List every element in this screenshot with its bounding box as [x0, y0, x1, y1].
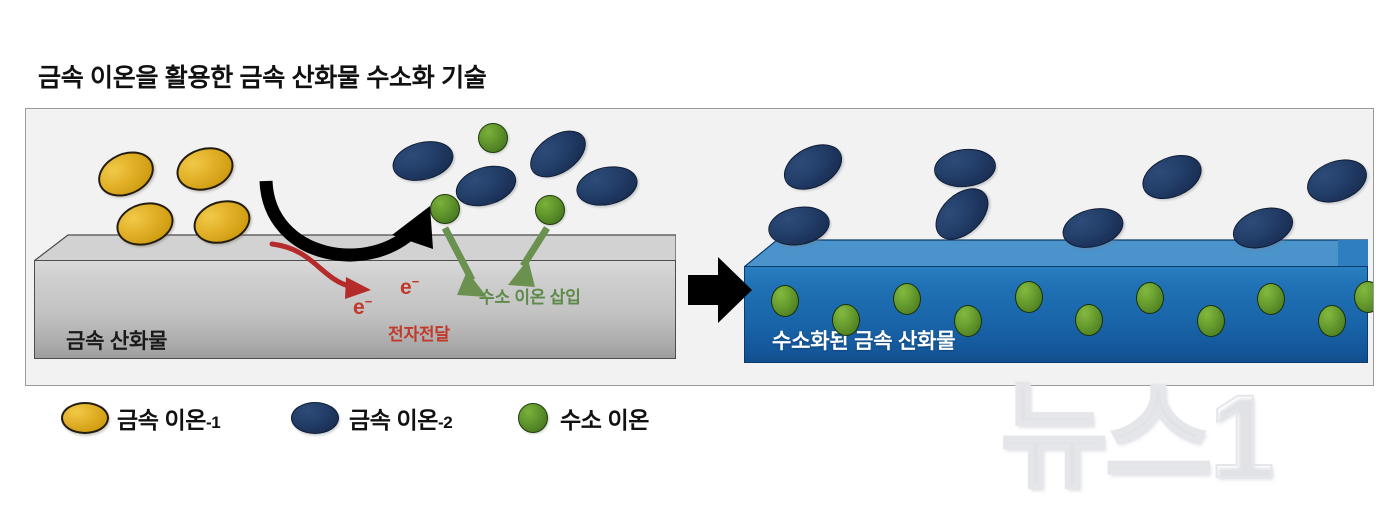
electron-label-left: e−	[353, 294, 372, 320]
metal-ion-2-particle	[388, 135, 457, 187]
embedded-hydrogen-ion	[1257, 283, 1285, 315]
legend-item-metal-ion-2: 금속 이온-2	[291, 398, 452, 438]
hydrogen-ion-particle	[535, 195, 565, 225]
legend-item-hydrogen-ion: 수소 이온	[518, 398, 649, 438]
legend: 금속 이온-1 금속 이온-2 수소 이온	[25, 396, 785, 444]
metal-ion-1-swatch-icon	[61, 402, 109, 434]
metal-ion-2-swatch-icon	[291, 402, 339, 434]
hydrogen-ion-particle	[478, 123, 508, 153]
embedded-hydrogen-ion	[1075, 304, 1103, 336]
embedded-hydrogen-ion	[1136, 282, 1164, 314]
legend-label-metal-ion-2: 금속 이온-2	[349, 401, 452, 435]
embedded-hydrogen-ion	[1197, 305, 1225, 337]
metal-ion-1-particle	[91, 143, 161, 205]
metal-ion-2-particle	[932, 146, 998, 190]
transition-arrow	[688, 257, 752, 323]
electron-label-right: e−	[400, 274, 419, 300]
legend-item-metal-ion-1: 금속 이온-1	[61, 398, 220, 438]
metal-ion-2-particle	[1136, 146, 1209, 207]
embedded-hydrogen-ion	[954, 305, 982, 337]
hydrogenated-slab-label: 수소화된 금속 산화물	[772, 325, 955, 355]
embedded-hydrogen-ion	[771, 285, 799, 317]
embedded-hydrogen-ion	[1318, 305, 1346, 337]
hydrogen-ion-particle	[430, 194, 460, 224]
figure-canvas: 금속 이온을 활용한 금속 산화물 수소화 기술 금속 산화물 수소화된 금속 …	[0, 0, 1400, 518]
hydrogen-ion-swatch-icon	[518, 403, 548, 433]
embedded-hydrogen-ion	[1015, 281, 1043, 313]
legend-label-hydrogen-ion: 수소 이온	[560, 401, 649, 435]
metal-ion-2-particle	[451, 159, 521, 213]
hydrogen-insertion-label: 수소 이온 삽입	[479, 283, 581, 308]
embedded-hydrogen-ion	[1354, 281, 1374, 313]
metal-oxide-slab-label: 금속 산화물	[66, 325, 167, 355]
diagram-panel: 금속 산화물 수소화된 금속 산화물	[25, 108, 1374, 386]
metal-ion-2-particle	[776, 135, 849, 199]
embedded-hydrogen-ion	[832, 304, 860, 336]
metal-ion-1-particle	[171, 141, 238, 197]
embedded-hydrogen-ion	[893, 283, 921, 315]
legend-label-metal-ion-1: 금속 이온-1	[117, 401, 220, 435]
metal-ion-2-particle	[1301, 152, 1373, 211]
figure-title: 금속 이온을 활용한 금속 산화물 수소화 기술	[38, 58, 486, 94]
electron-transfer-label: 전자전달	[388, 320, 450, 345]
metal-ion-2-particle	[573, 161, 642, 211]
watermark: 뉴스1	[1000, 372, 1390, 502]
